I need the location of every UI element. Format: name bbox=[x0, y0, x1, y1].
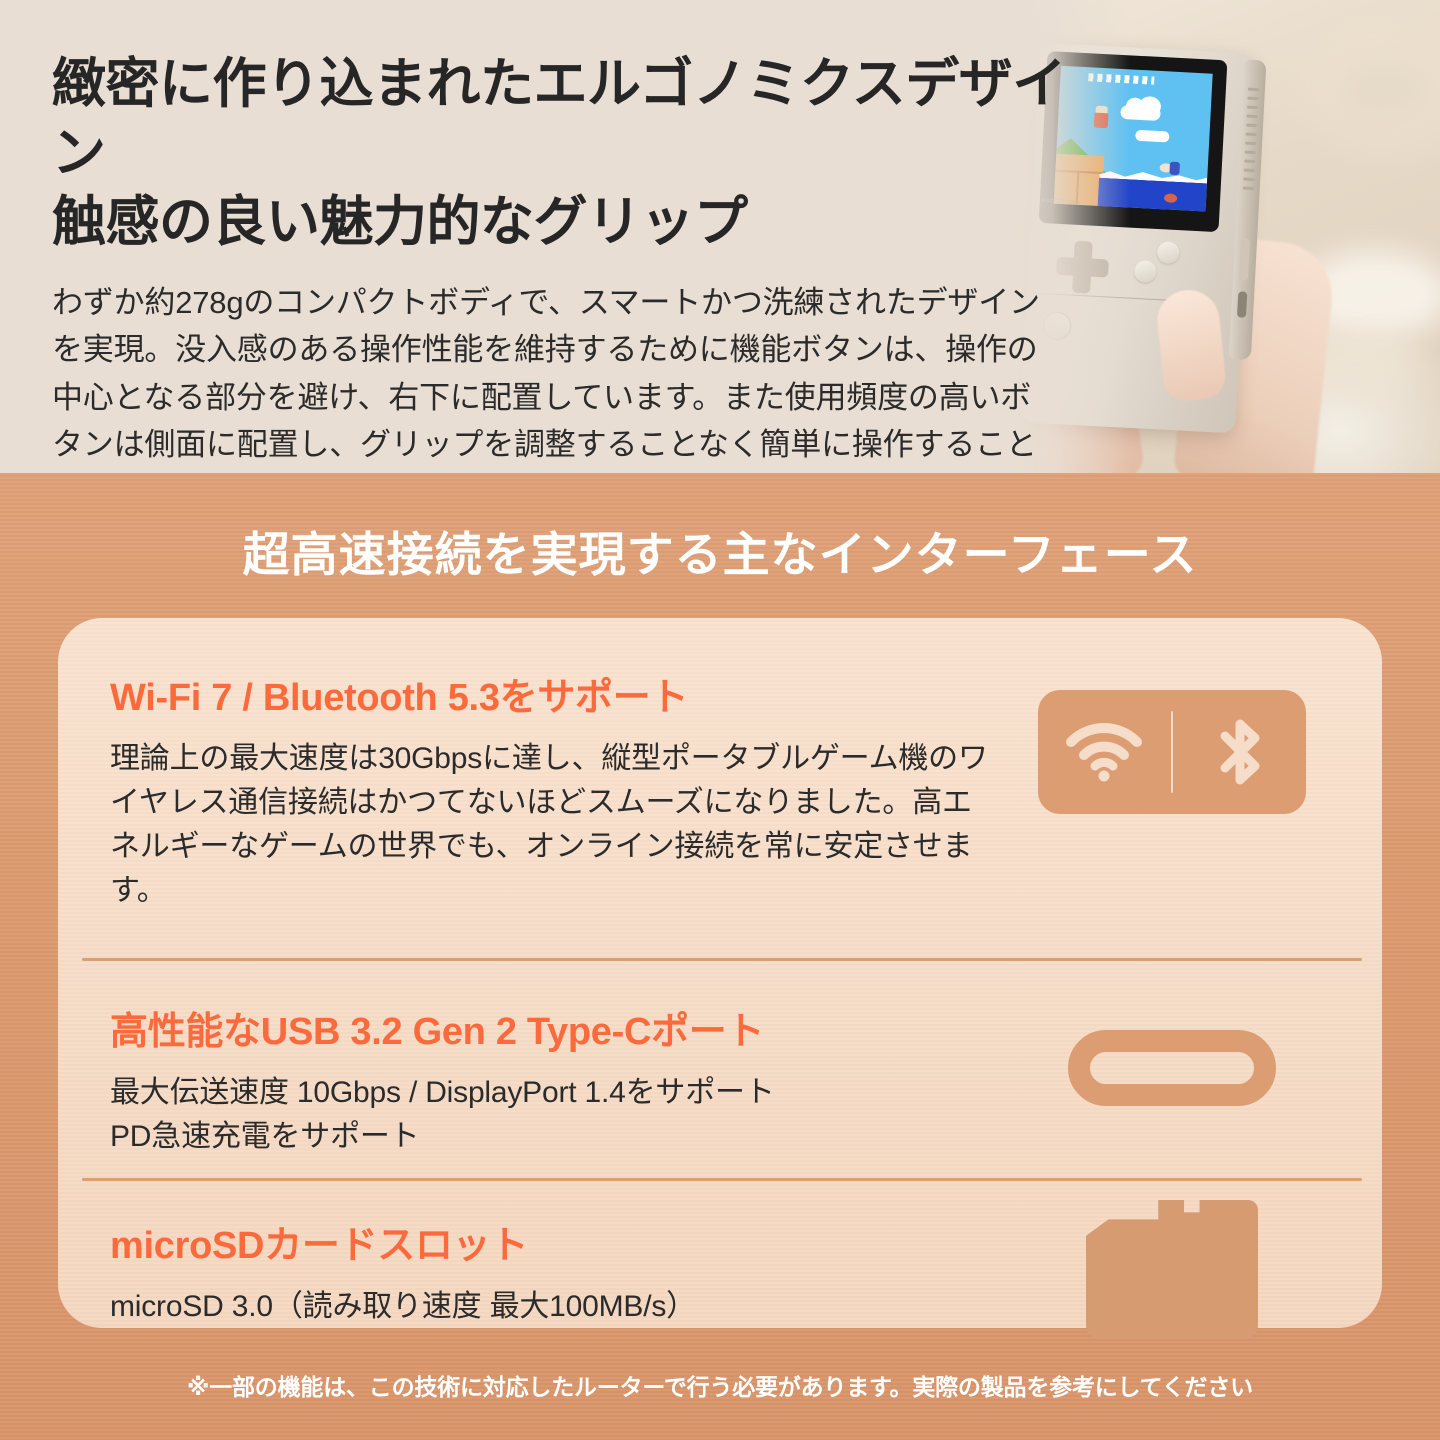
microsd-card-icon bbox=[1086, 1200, 1258, 1338]
photo-bokeh-highlight bbox=[1340, 60, 1430, 120]
feature-block-usb-c: 高性能なUSB 3.2 Gen 2 Type-Cポート 最大伝送速度 10Gbp… bbox=[58, 958, 1382, 1178]
usb-c-port-icon bbox=[1068, 1030, 1276, 1106]
game-enemy bbox=[1159, 163, 1172, 173]
feature-title-usb-c: 高性能なUSB 3.2 Gen 2 Type-Cポート bbox=[110, 1000, 990, 1055]
wifi-bluetooth-badge bbox=[1038, 690, 1306, 814]
feature-block-microsd: microSDカードスロット microSD 3.0（読み取り速度 最大100M… bbox=[58, 1178, 1382, 1328]
page-lead-paragraph: わずか約278gのコンパクトボディで、スマートかつ洗練されたデザインを実現。没入… bbox=[52, 279, 1052, 473]
product-feature-page: POCKET DMG 緻密に作り込まれたエルゴノミクスデザイン 触感の良い魅力的… bbox=[0, 0, 1440, 1440]
feature-title-wifi-bluetooth: Wi-Fi 7 / Bluetooth 5.3をサポート bbox=[110, 666, 990, 721]
page-headline: 緻密に作り込まれたエルゴノミクスデザイン 触感の良い魅力的なグリップ bbox=[52, 50, 1112, 257]
wifi-icon bbox=[1038, 722, 1171, 782]
feature-body-microsd: microSD 3.0（読み取り速度 最大100MB/s） bbox=[110, 1285, 990, 1329]
bluetooth-icon bbox=[1173, 714, 1306, 790]
feature-block-wifi-bluetooth: Wi-Fi 7 / Bluetooth 5.3をサポート 理論上の最大速度は30… bbox=[58, 618, 1382, 958]
feature-body-usb-c: 最大伝送速度 10Gbps / DisplayPort 1.4をサポート PD急… bbox=[110, 1071, 990, 1159]
top-copy-block: 緻密に作り込まれたエルゴノミクスデザイン 触感の良い魅力的なグリップ わずか約2… bbox=[52, 50, 1112, 473]
action-button-b bbox=[1134, 260, 1157, 283]
top-section: POCKET DMG 緻密に作り込まれたエルゴノミクスデザイン 触感の良い魅力的… bbox=[0, 0, 1440, 473]
feature-title-microsd: microSDカードスロット bbox=[110, 1214, 990, 1269]
feature-body-wifi-bluetooth: 理論上の最大速度は30Gbpsに達し、縦型ポータブルゲーム機のワイヤレス通信接続… bbox=[110, 737, 990, 913]
interfaces-section: 超高速接続を実現する主なインターフェース Wi-Fi 7 / Bluetooth… bbox=[0, 473, 1440, 1440]
console-side-port bbox=[1237, 291, 1247, 317]
features-card: Wi-Fi 7 / Bluetooth 5.3をサポート 理論上の最大速度は30… bbox=[58, 618, 1382, 1328]
section-title: 超高速接続を実現する主なインターフェース bbox=[0, 516, 1440, 585]
game-cloud bbox=[1135, 130, 1170, 143]
section-footnote: ※一部の機能は、この技術に対応したルーターで行う必要があります。実際の製品を参考… bbox=[0, 1368, 1440, 1402]
action-button-a bbox=[1157, 241, 1180, 264]
